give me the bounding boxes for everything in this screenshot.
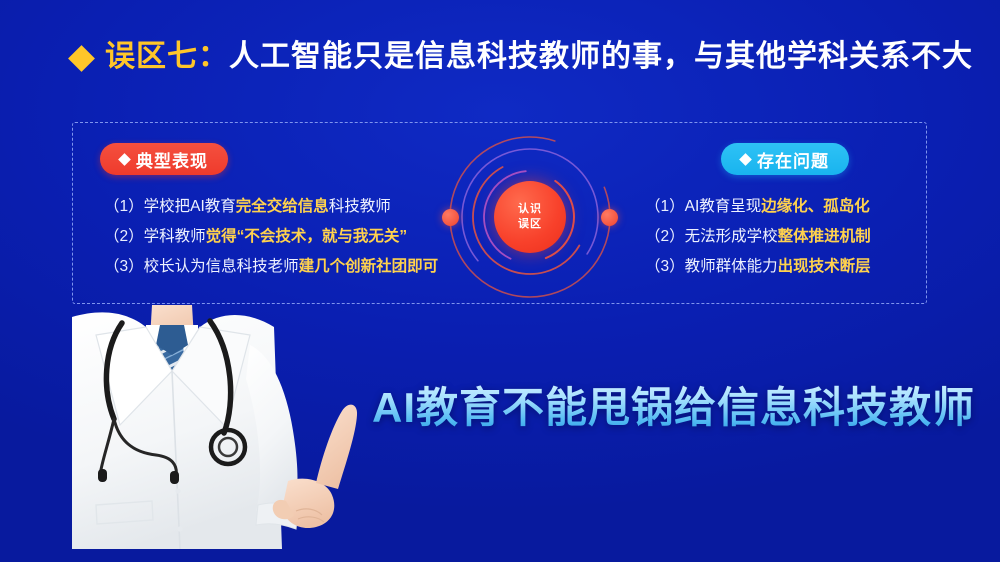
item-number: （2） <box>104 228 144 245</box>
left-bullet-list: （1）学校把AI教育完全交给信息科技教师 （2）学科教师觉得“不会技术，就与我无… <box>104 192 438 282</box>
page-title: 误区七：人工智能只是信息科技教师的事，与其他学科关系不大 <box>72 42 973 72</box>
item-number: （3） <box>645 258 685 275</box>
badge-existing-problems: 存在问题 <box>721 143 849 175</box>
diamond-icon <box>739 153 752 166</box>
title-lead: 误区七： <box>105 40 229 73</box>
title-rest: 人工智能只是信息科技教师的事，与其他学科关系不大 <box>229 40 973 73</box>
orbit-node-left <box>442 209 459 226</box>
item-text-pre: 校长认为信息科技老师 <box>144 258 299 275</box>
list-item: （3）教师群体能力出现技术断层 <box>645 252 871 282</box>
item-number: （1） <box>104 198 144 215</box>
core-line-1: 认识 <box>518 203 542 216</box>
orbit-node-right <box>601 209 618 226</box>
diamond-icon <box>68 45 95 72</box>
item-text-pre: 教师群体能力 <box>685 258 778 275</box>
item-number: （2） <box>645 228 685 245</box>
badge-right-label: 存在问题 <box>757 147 829 172</box>
doctor-pointing-photo <box>60 305 370 562</box>
badge-left-label: 典型表现 <box>136 147 208 172</box>
list-item: （1）学校把AI教育完全交给信息科技教师 <box>104 192 438 222</box>
list-item: （1）AI教育呈现边缘化、孤岛化 <box>645 192 871 222</box>
item-number: （1） <box>645 198 685 215</box>
list-item: （2）学科教师觉得“不会技术，就与我无关” <box>104 222 438 252</box>
item-text-highlight: 整体推进机制 <box>778 228 871 245</box>
item-number: （3） <box>104 258 144 275</box>
item-text-highlight: 出现技术断层 <box>778 258 871 275</box>
slide-root: 误区七：人工智能只是信息科技教师的事，与其他学科关系不大 典型表现 存在问题 （… <box>0 0 1000 562</box>
right-bullet-list: （1）AI教育呈现边缘化、孤岛化 （2）无法形成学校整体推进机制 （3）教师群体… <box>645 192 871 282</box>
item-text-pre: 无法形成学校 <box>685 228 778 245</box>
badge-typical-behaviour: 典型表现 <box>100 143 228 175</box>
item-text-highlight: 边缘化、孤岛化 <box>761 198 870 215</box>
item-text-post: 科技教师 <box>329 198 391 215</box>
item-text-pre: AI教育呈现 <box>685 198 762 215</box>
doctor-illustration <box>60 305 370 562</box>
item-text-pre: 学校把AI教育 <box>144 198 236 215</box>
item-text-highlight: 完全交给信息 <box>236 198 329 215</box>
core-line-2: 误区 <box>518 218 542 231</box>
list-item: （2）无法形成学校整体推进机制 <box>645 222 871 252</box>
list-item: （3）校长认为信息科技老师建几个创新社团即可 <box>104 252 438 282</box>
item-text-pre: 学科教师 <box>144 228 206 245</box>
orbit-diagram: 认识 误区 <box>445 132 615 302</box>
bottom-headline: AI教育不能甩锅给信息科技教师 <box>372 374 975 435</box>
item-text-highlight: 觉得“不会技术，就与我无关” <box>206 228 408 245</box>
orbit-core: 认识 误区 <box>494 181 566 253</box>
title-text: 误区七：人工智能只是信息科技教师的事，与其他学科关系不大 <box>105 42 973 72</box>
diamond-icon <box>118 153 131 166</box>
item-text-highlight: 建几个创新社团即可 <box>299 258 439 275</box>
